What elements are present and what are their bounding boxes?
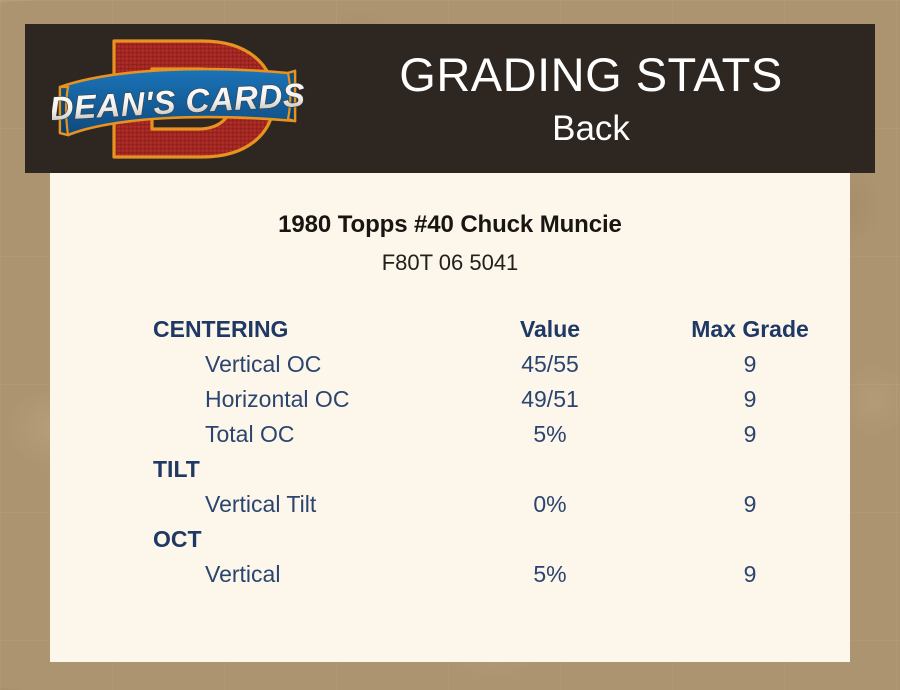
section-spacer-grade [650,452,850,487]
card-code: F80T 06 5041 [50,250,850,276]
section-label: OCT [50,522,450,557]
row-max-grade: 9 [650,382,850,417]
card-title: 1980 Topps #40 Chuck Muncie [50,211,850,239]
page-title: GRADING STATS [399,51,782,98]
content-panel: 1980 Topps #40 Chuck Muncie F80T 06 5041… [50,173,850,662]
column-header-max-grade: Max Grade [650,312,850,347]
page-subtitle: Back [552,111,630,146]
row-label: Horizontal OC [50,382,450,417]
row-max-grade: 9 [650,557,850,592]
deans-cards-logo[interactable]: DEAN'S CARDS [52,29,317,169]
section-spacer-value [450,452,650,487]
header-bar: DEAN'S CARDS GRADING STATS Back [25,24,875,173]
table-header: CENTERING Value Max Grade [50,312,850,347]
row-max-grade: 9 [650,417,850,452]
table-row: Vertical OC45/559 [50,347,850,382]
column-header-value: Value [450,312,650,347]
row-max-grade: 9 [650,487,850,522]
row-label: Vertical OC [50,347,450,382]
table-row: Horizontal OC49/519 [50,382,850,417]
row-value: 5% [450,417,650,452]
row-value: 0% [450,487,650,522]
row-label: Total OC [50,417,450,452]
header-title-block: GRADING STATS Back [325,24,875,173]
row-value: 49/51 [450,382,650,417]
row-value: 5% [450,557,650,592]
grading-stats-table: CENTERING Value Max Grade Vertical OC45/… [50,312,850,592]
table-row: Total OC5%9 [50,417,850,452]
section-header-row: OCT [50,522,850,557]
table-row: Vertical5%9 [50,557,850,592]
row-label: Vertical Tilt [50,487,450,522]
column-header-centering: CENTERING [50,312,450,347]
section-header-row: TILT [50,452,850,487]
row-value: 45/55 [450,347,650,382]
table-body: Vertical OC45/559Horizontal OC49/519Tota… [50,347,850,592]
table-row: Vertical Tilt0%9 [50,487,850,522]
row-max-grade: 9 [650,347,850,382]
section-spacer-grade [650,522,850,557]
section-label: TILT [50,452,450,487]
row-label: Vertical [50,557,450,592]
section-spacer-value [450,522,650,557]
table-header-row: CENTERING Value Max Grade [50,312,850,347]
